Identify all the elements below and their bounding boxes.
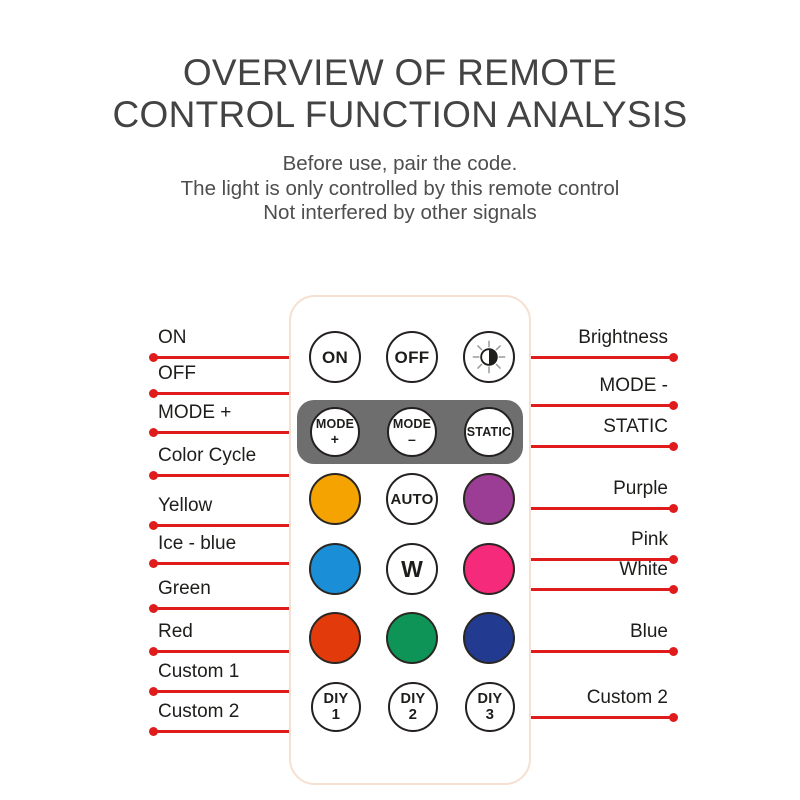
button-auto-label: AUTO	[390, 492, 433, 507]
button-mode-minus-label: MODE	[393, 418, 431, 431]
button-diy-3-label: DIY	[477, 692, 502, 707]
title-line-1: OVERVIEW OF REMOTE	[0, 52, 800, 94]
title-line-2: CONTROL FUNCTION ANALYSIS	[0, 94, 800, 136]
callout-dot-ice-blue	[149, 559, 158, 568]
button-diy-1[interactable]: DIY 1	[311, 682, 361, 732]
button-diy-3-number: 3	[486, 707, 495, 722]
callout-label-green: Green	[158, 578, 211, 600]
button-white[interactable]: W	[386, 543, 438, 595]
callout-label-mode-plus: MODE +	[158, 402, 231, 424]
button-white-label: W	[401, 558, 423, 581]
callout-dot-mode-minus	[669, 401, 678, 410]
callout-dot-white	[669, 585, 678, 594]
button-color-green[interactable]	[386, 612, 438, 664]
callout-dot-color-cycle	[149, 471, 158, 480]
callout-label-custom-1: Custom 1	[158, 661, 239, 683]
callout-dot-pink	[669, 555, 678, 564]
button-diy-2[interactable]: DIY 2	[388, 682, 438, 732]
brightness-icon	[465, 333, 513, 381]
button-color-pink[interactable]	[463, 543, 515, 595]
callout-label-on: ON	[158, 327, 187, 349]
callout-label-yellow: Yellow	[158, 495, 212, 517]
button-mode-minus[interactable]: MODE –	[387, 407, 437, 457]
callout-dot-red	[149, 647, 158, 656]
callout-dot-custom-2-left	[149, 727, 158, 736]
callout-dot-purple	[669, 504, 678, 513]
callout-label-custom-2: Custom 2	[158, 701, 239, 723]
page-title: OVERVIEW OF REMOTE CONTROL FUNCTION ANAL…	[0, 52, 800, 136]
button-on[interactable]: ON	[309, 331, 361, 383]
button-diy-3[interactable]: DIY 3	[465, 682, 515, 732]
poster-canvas: OVERVIEW OF REMOTE CONTROL FUNCTION ANAL…	[0, 0, 800, 800]
callout-dot-on	[149, 353, 158, 362]
button-mode-plus-sign: +	[331, 432, 339, 446]
callout-dot-yellow	[149, 521, 158, 530]
button-diy-1-number: 1	[332, 707, 341, 722]
button-off-label: OFF	[395, 349, 430, 366]
button-color-red[interactable]	[309, 612, 361, 664]
button-static-label: STATIC	[467, 426, 511, 439]
page-subtitle: Before use, pair the code. The light is …	[0, 152, 800, 226]
button-color-yellow[interactable]	[309, 473, 361, 525]
callout-dot-custom-1	[149, 687, 158, 696]
callout-label-ice-blue: Ice - blue	[158, 533, 236, 555]
button-color-blue[interactable]	[463, 612, 515, 664]
button-diy-1-label: DIY	[323, 692, 348, 707]
button-mode-minus-sign: –	[408, 432, 416, 446]
button-diy-2-number: 2	[409, 707, 418, 722]
callout-dot-custom-2-right	[669, 713, 678, 722]
subtitle-line-3: Not interfered by other signals	[0, 201, 800, 226]
button-mode-plus-label: MODE	[316, 418, 354, 431]
callout-label-color-cycle: Color Cycle	[158, 445, 256, 467]
button-diy-2-label: DIY	[400, 692, 425, 707]
callout-dot-brightness	[669, 353, 678, 362]
button-on-label: ON	[322, 349, 348, 366]
button-auto[interactable]: AUTO	[386, 473, 438, 525]
callout-dot-off	[149, 389, 158, 398]
button-mode-plus[interactable]: MODE +	[310, 407, 360, 457]
button-static[interactable]: STATIC	[464, 407, 514, 457]
callout-dot-static	[669, 442, 678, 451]
button-color-ice-blue[interactable]	[309, 543, 361, 595]
callout-dot-blue	[669, 647, 678, 656]
callout-label-off: OFF	[158, 363, 196, 385]
button-color-purple[interactable]	[463, 473, 515, 525]
subtitle-line-2: The light is only controlled by this rem…	[0, 177, 800, 202]
callout-dot-mode-plus	[149, 428, 158, 437]
subtitle-line-1: Before use, pair the code.	[0, 152, 800, 177]
callout-label-red: Red	[158, 621, 193, 643]
button-off[interactable]: OFF	[386, 331, 438, 383]
button-brightness[interactable]	[463, 331, 515, 383]
callout-dot-green	[149, 604, 158, 613]
